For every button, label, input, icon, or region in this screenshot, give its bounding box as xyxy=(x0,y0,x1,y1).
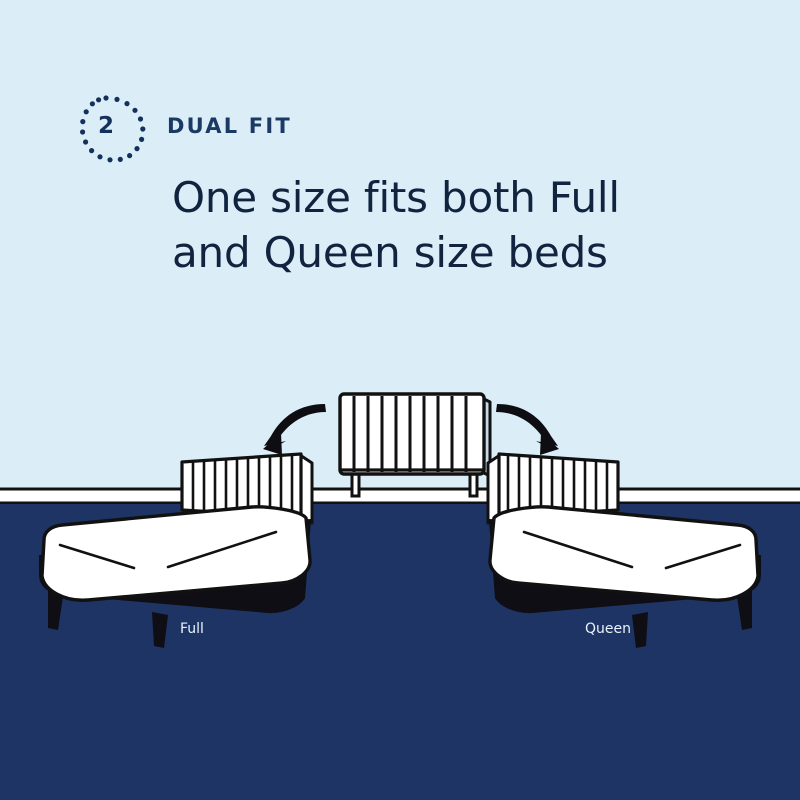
step-badge: 2 xyxy=(78,98,134,154)
bed-label-full: Full xyxy=(180,621,204,637)
headboard-panel xyxy=(340,394,484,474)
step-number: 2 xyxy=(98,115,114,138)
step-header: 2 DUAL FIT xyxy=(78,98,292,154)
illustration-card: 2 DUAL FIT One size fits both Full and Q… xyxy=(0,0,800,800)
headline-line-1: One size fits both Full xyxy=(172,173,620,222)
bed-label-queen: Queen xyxy=(585,621,631,637)
page-title: One size fits both Full and Queen size b… xyxy=(172,170,732,281)
step-eyebrow-label: DUAL FIT xyxy=(167,114,292,138)
headline-line-2: and Queen size beds xyxy=(172,225,732,280)
